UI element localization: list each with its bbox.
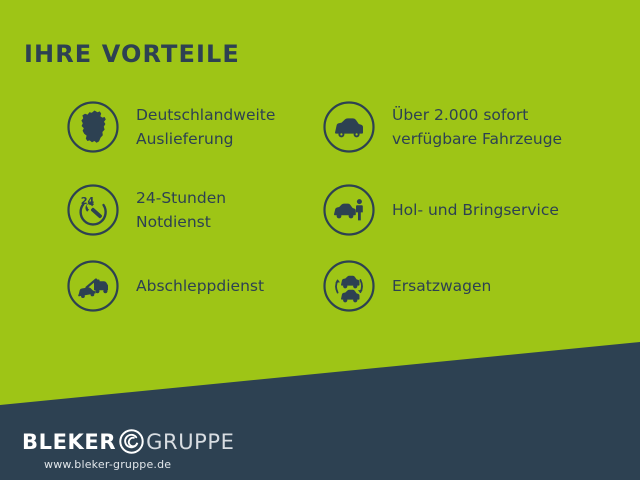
feature-label: Deutschlandweite Auslieferung bbox=[136, 103, 275, 151]
slide-canvas: IHRE VORTEILE Deutschlandweite Ausliefer… bbox=[0, 0, 640, 480]
feature-item-24-stunden-notdienst[interactable]: 24 24-Stunden Notdienst bbox=[66, 183, 226, 237]
feature-item-abschleppdienst[interactable]: Abschleppdienst bbox=[66, 259, 264, 313]
feature-label: Ersatzwagen bbox=[392, 274, 491, 298]
car-person-icon bbox=[322, 183, 376, 237]
feature-item-ersatzwagen[interactable]: Ersatzwagen bbox=[322, 259, 491, 313]
feature-label: Abschleppdienst bbox=[136, 274, 264, 298]
spiral-ring-icon bbox=[118, 428, 145, 455]
germany-map-icon bbox=[66, 100, 120, 154]
brand-name-light: GRUPPE bbox=[146, 430, 234, 454]
feature-item-deutschlandweite-auslieferung[interactable]: Deutschlandweite Auslieferung bbox=[66, 100, 275, 154]
feature-item-verfuegbare-fahrzeuge[interactable]: Über 2.000 sofort verfügbare Fahrzeuge bbox=[322, 100, 562, 154]
feature-label: 24-Stunden Notdienst bbox=[136, 186, 226, 234]
feature-list: Deutschlandweite Auslieferung 24 24-Stun… bbox=[0, 0, 640, 340]
feature-label: Über 2.000 sofort verfügbare Fahrzeuge bbox=[392, 103, 562, 151]
website-url[interactable]: www.bleker-gruppe.de bbox=[44, 458, 171, 471]
car-icon bbox=[322, 100, 376, 154]
tow-truck-icon bbox=[66, 259, 120, 313]
brand-logo[interactable]: BLEKER GRUPPE bbox=[22, 428, 235, 455]
feature-label: Hol- und Bringservice bbox=[392, 198, 559, 222]
brand-name-bold: BLEKER bbox=[22, 430, 116, 454]
two-cars-swap-icon bbox=[322, 259, 376, 313]
clock-wrench-24-icon: 24 bbox=[66, 183, 120, 237]
feature-item-hol-und-bringservice[interactable]: Hol- und Bringservice bbox=[322, 183, 559, 237]
